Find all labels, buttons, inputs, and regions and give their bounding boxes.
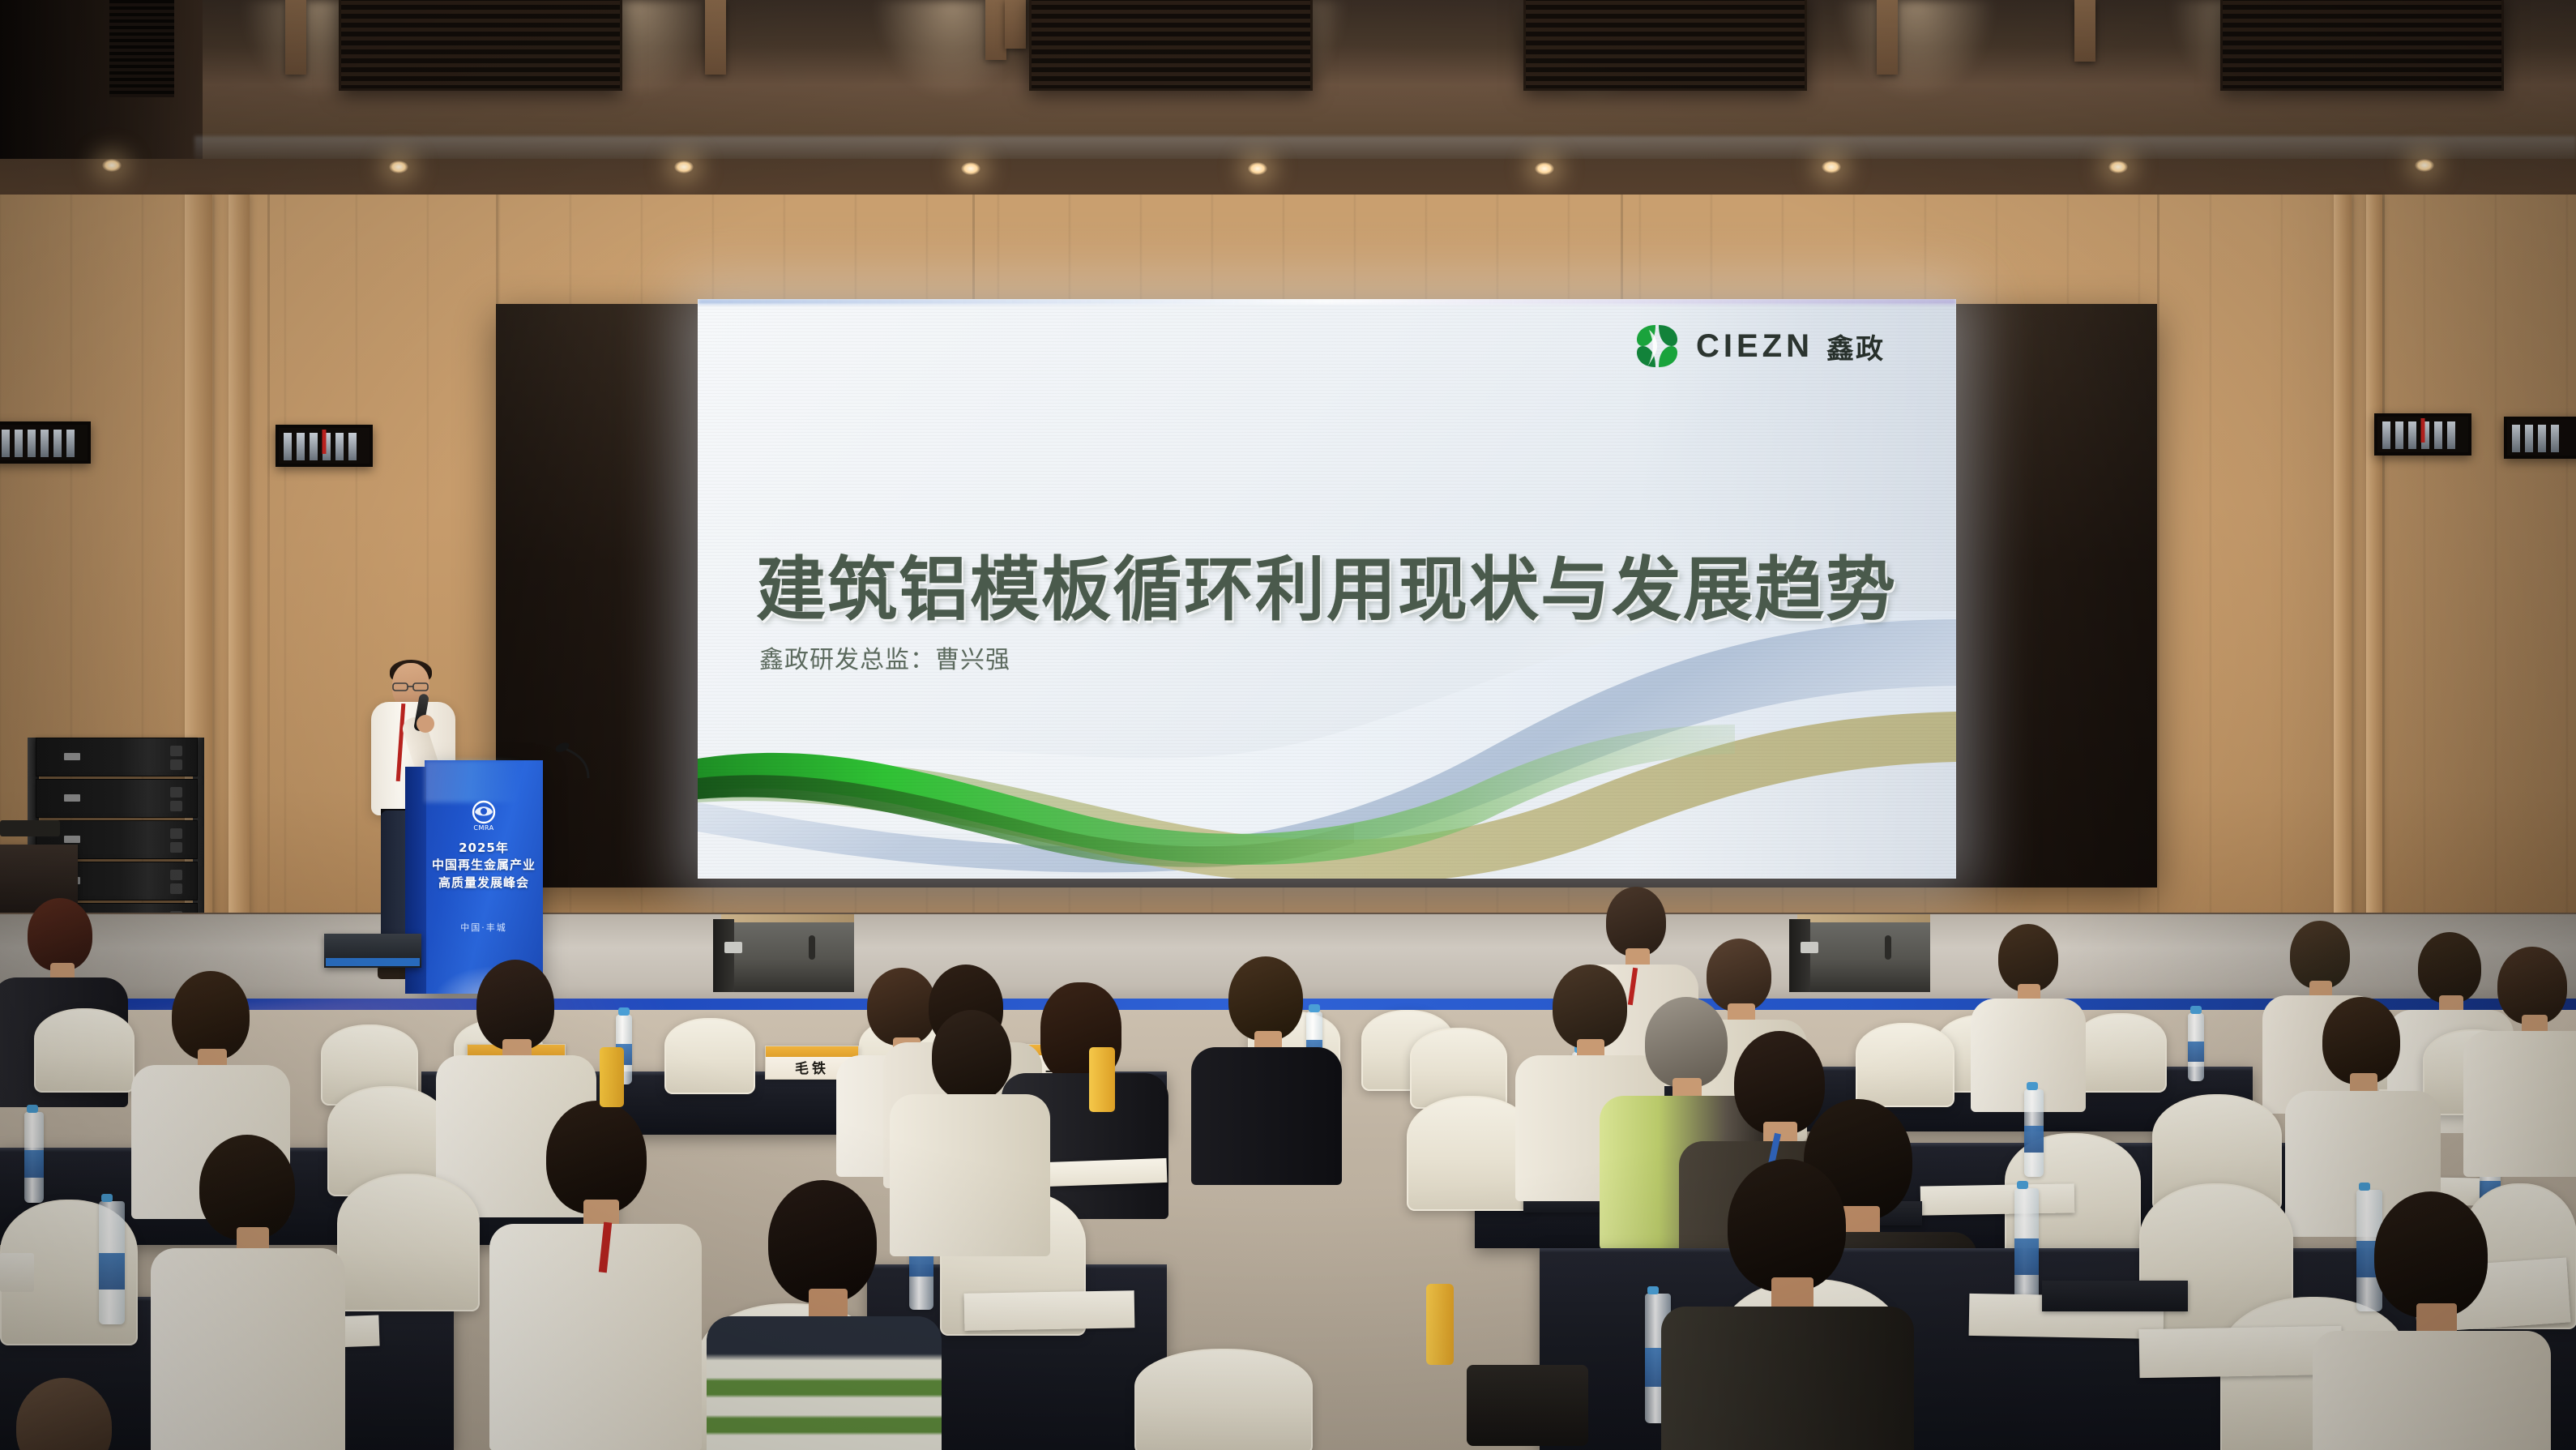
paper-cup <box>0 1253 34 1292</box>
wall-art-panel <box>2374 413 2471 456</box>
audience-chair <box>664 1018 755 1094</box>
ceiling-downlight <box>389 160 408 173</box>
slide-title: 建筑铝模板循环利用现状与发展趋势 <box>756 533 1907 634</box>
ceiling-vent <box>1029 0 1313 91</box>
ceiling-grille <box>109 0 174 97</box>
water-bottle <box>99 1201 125 1324</box>
ceiling-downlight <box>674 160 694 173</box>
ceiling-downlight <box>1822 160 1841 173</box>
logo-latin-text: CIEZN <box>1696 328 1813 365</box>
podium-line-3: 高质量发展峰会 <box>425 875 543 892</box>
audience-person <box>2318 1191 2544 1450</box>
ceiling-downlight <box>2108 160 2128 173</box>
audience-chair <box>34 1008 135 1093</box>
av-mixer <box>0 820 60 836</box>
ceiling-downlight <box>102 159 122 172</box>
ceiling-downlight <box>961 162 980 175</box>
audience-person <box>2463 947 2576 1133</box>
ceiling-downlight <box>1248 162 1267 175</box>
handout-paper <box>2138 1326 2342 1378</box>
podium-title-text: 2025年 中国再生金属产业 高质量发展峰会 <box>425 840 543 892</box>
audience-person <box>154 1135 340 1450</box>
audience-person <box>494 1101 697 1449</box>
document-folder <box>2042 1281 2188 1311</box>
stage-monitor-left <box>713 914 854 992</box>
conference-hall-photo: CIEZN 鑫政 建筑铝模板循环利用现状与发展趋势 鑫政研发总监：曹兴强 <box>0 0 2576 1450</box>
water-bottle <box>2024 1089 2044 1177</box>
water-bottle <box>2014 1188 2039 1308</box>
ceiling <box>0 0 2576 212</box>
audience-person <box>1191 956 1337 1143</box>
led-presentation-screen: CIEZN 鑫政 建筑铝模板循环利用现状与发展趋势 鑫政研发总监：曹兴强 <box>698 299 1956 879</box>
handbag <box>1467 1365 1588 1446</box>
svg-text:CMRA: CMRA <box>473 824 493 832</box>
stage-step-edge <box>326 958 420 966</box>
juice-bottle <box>1426 1284 1454 1365</box>
lectern-podium: CMRA 2025年 中国再生金属产业 高质量发展峰会 中国·丰城 <box>425 760 543 994</box>
podium-location-text: 中国·丰城 <box>425 921 543 934</box>
audience-person <box>1967 924 2089 1086</box>
handout-paper <box>964 1290 1135 1331</box>
juice-bottle <box>600 1047 624 1107</box>
audience-person <box>891 1010 1045 1221</box>
water-bottle <box>24 1112 44 1203</box>
slide-subtitle: 鑫政研发总监：曹兴强 <box>759 639 1010 675</box>
gooseneck-microphone <box>548 731 592 780</box>
wall-art-panel <box>276 425 373 467</box>
audience-chair <box>1134 1349 1313 1450</box>
cmra-logo-icon: CMRA <box>466 798 502 833</box>
ceiling-downlight <box>2415 159 2434 172</box>
logo-chinese-text: 鑫政 <box>1826 327 1885 366</box>
audience-person <box>1669 1159 1904 1450</box>
juice-bottle <box>1089 1047 1115 1112</box>
ceiling-downlight <box>1535 162 1554 175</box>
podium-line-1: 2025年 <box>425 840 543 857</box>
ceiling-vent <box>1523 0 1807 91</box>
eyeglasses-icon <box>392 681 429 690</box>
audience-person <box>0 1378 146 1450</box>
water-bottle <box>2188 1013 2204 1081</box>
ciezn-mark-icon <box>1631 320 1683 372</box>
wall-art-panel <box>2504 417 2576 459</box>
audience-chair <box>337 1174 480 1311</box>
audience-person <box>2285 997 2439 1200</box>
ceiling-vent <box>2220 0 2504 91</box>
podium-line-2: 中国再生金属产业 <box>425 857 543 874</box>
slide-brand-logo: CIEZN 鑫政 <box>1631 320 1885 372</box>
ceiling-vent <box>339 0 622 91</box>
wall-art-panel <box>0 421 91 464</box>
stage-monitor-right <box>1789 914 1930 992</box>
